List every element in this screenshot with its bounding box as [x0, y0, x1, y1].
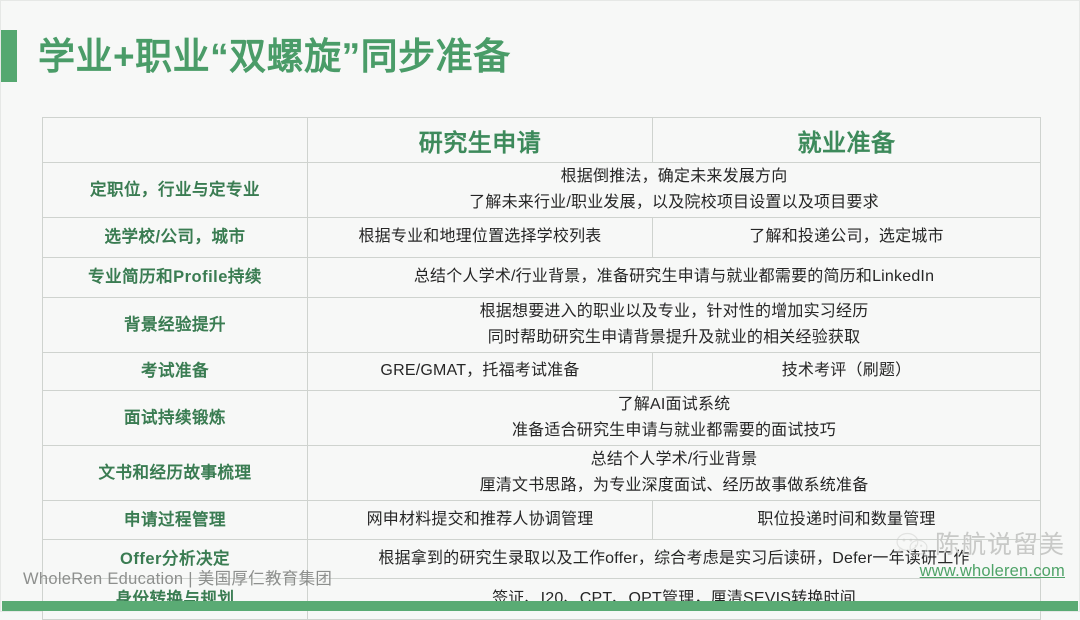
table-row: 考试准备 GRE/GMAT，托福考试准备 技术考评（刷题）: [43, 353, 1041, 391]
table-row: 背景经验提升 根据想要进入的职业以及专业，针对性的增加实习经历 同时帮助研究生申…: [43, 298, 1041, 353]
cell-line: 了解AI面试系统: [308, 392, 1040, 418]
header-label-blank: [43, 118, 308, 163]
row-label: 专业简历和Profile持续: [43, 258, 308, 298]
row-label: 面试持续锻炼: [43, 391, 308, 446]
title-accent-bar: [1, 30, 17, 82]
row-label: 背景经验提升: [43, 298, 308, 353]
table-row: 选学校/公司，城市 根据专业和地理位置选择学校列表 了解和投递公司，选定城市: [43, 218, 1041, 258]
row-job-cell: 技术考评（刷题）: [653, 353, 1041, 391]
row-label: 申请过程管理: [43, 501, 308, 540]
cell-line: 根据想要进入的职业以及专业，针对性的增加实习经历: [308, 299, 1040, 325]
table-row: 申请过程管理 网申材料提交和推荐人协调管理 职位投递时间和数量管理: [43, 501, 1041, 540]
slide-canvas: 学业+职业“双螺旋”同步准备 研究生申请 就业准备 定职位，行业与定专业: [0, 0, 1080, 612]
table-row: 文书和经历故事梳理 总结个人学术/行业背景 厘清文书思路，为专业深度面试、经历故…: [43, 446, 1041, 501]
table-row: 面试持续锻炼 了解AI面试系统 准备适合研究生申请与就业都需要的面试技巧: [43, 391, 1041, 446]
watermark: 陈航说留美 www.wholeren.com: [895, 530, 1065, 581]
footer-accent-bar: [2, 601, 1078, 611]
row-grad-cell: GRE/GMAT，托福考试准备: [308, 353, 653, 391]
cell-line: 根据倒推法，确定未来发展方向: [308, 164, 1040, 190]
row-merged-cell: 根据想要进入的职业以及专业，针对性的增加实习经历 同时帮助研究生申请背景提升及就…: [308, 298, 1041, 353]
row-merged-cell: 总结个人学术/行业背景，准备研究生申请与就业都需要的简历和LinkedIn: [308, 258, 1041, 298]
row-grad-cell: 网申材料提交和推荐人协调管理: [308, 501, 653, 540]
watermark-url-link[interactable]: www.wholeren.com: [920, 562, 1065, 581]
cell-line: 厘清文书思路，为专业深度面试、经历故事做系统准备: [308, 473, 1040, 499]
slide-title-row: 学业+职业“双螺旋”同步准备: [1, 28, 511, 84]
header-job-preparation: 就业准备: [653, 118, 1041, 163]
page-title: 学业+职业“双螺旋”同步准备: [38, 38, 511, 75]
comparison-table-wrapper: 研究生申请 就业准备 定职位，行业与定专业 根据倒推法，确定未来发展方向 了解未…: [42, 117, 1040, 620]
header-grad-application: 研究生申请: [308, 118, 653, 163]
table-row: 专业简历和Profile持续 总结个人学术/行业背景，准备研究生申请与就业都需要…: [43, 258, 1041, 298]
comparison-table: 研究生申请 就业准备 定职位，行业与定专业 根据倒推法，确定未来发展方向 了解未…: [42, 117, 1041, 620]
row-merged-cell: 签证、I20、CPT、OPT管理，厘清SEVIS转换时间: [308, 579, 1041, 620]
watermark-account-name: 陈航说留美: [935, 533, 1065, 558]
row-label: 文书和经历故事梳理: [43, 446, 308, 501]
wechat-icon: [895, 532, 929, 558]
row-merged-cell: 了解AI面试系统 准备适合研究生申请与就业都需要的面试技巧: [308, 391, 1041, 446]
cell-line: 同时帮助研究生申请背景提升及就业的相关经验获取: [308, 325, 1040, 351]
row-grad-cell: 根据专业和地理位置选择学校列表: [308, 218, 653, 258]
row-merged-cell: 根据倒推法，确定未来发展方向 了解未来行业/职业发展，以及院校项目设置以及项目要…: [308, 163, 1041, 218]
row-merged-cell: 总结个人学术/行业背景 厘清文书思路，为专业深度面试、经历故事做系统准备: [308, 446, 1041, 501]
watermark-top: 陈航说留美: [895, 530, 1065, 560]
cell-line: 准备适合研究生申请与就业都需要的面试技巧: [308, 418, 1040, 444]
row-label: 考试准备: [43, 353, 308, 391]
table-header-row: 研究生申请 就业准备: [43, 118, 1041, 163]
cell-line: 了解未来行业/职业发展，以及院校项目设置以及项目要求: [308, 190, 1040, 216]
cell-line: 总结个人学术/行业背景，准备研究生申请与就业都需要的简历和LinkedIn: [308, 265, 1040, 290]
row-label: 选学校/公司，城市: [43, 218, 308, 258]
table-row: 定职位，行业与定专业 根据倒推法，确定未来发展方向 了解未来行业/职业发展，以及…: [43, 163, 1041, 218]
row-job-cell: 了解和投递公司，选定城市: [653, 218, 1041, 258]
row-label: 定职位，行业与定专业: [43, 163, 308, 218]
footer-credit: WholeRen Education | 美国厚仁教育集团: [23, 565, 332, 589]
cell-line: 总结个人学术/行业背景: [308, 447, 1040, 473]
